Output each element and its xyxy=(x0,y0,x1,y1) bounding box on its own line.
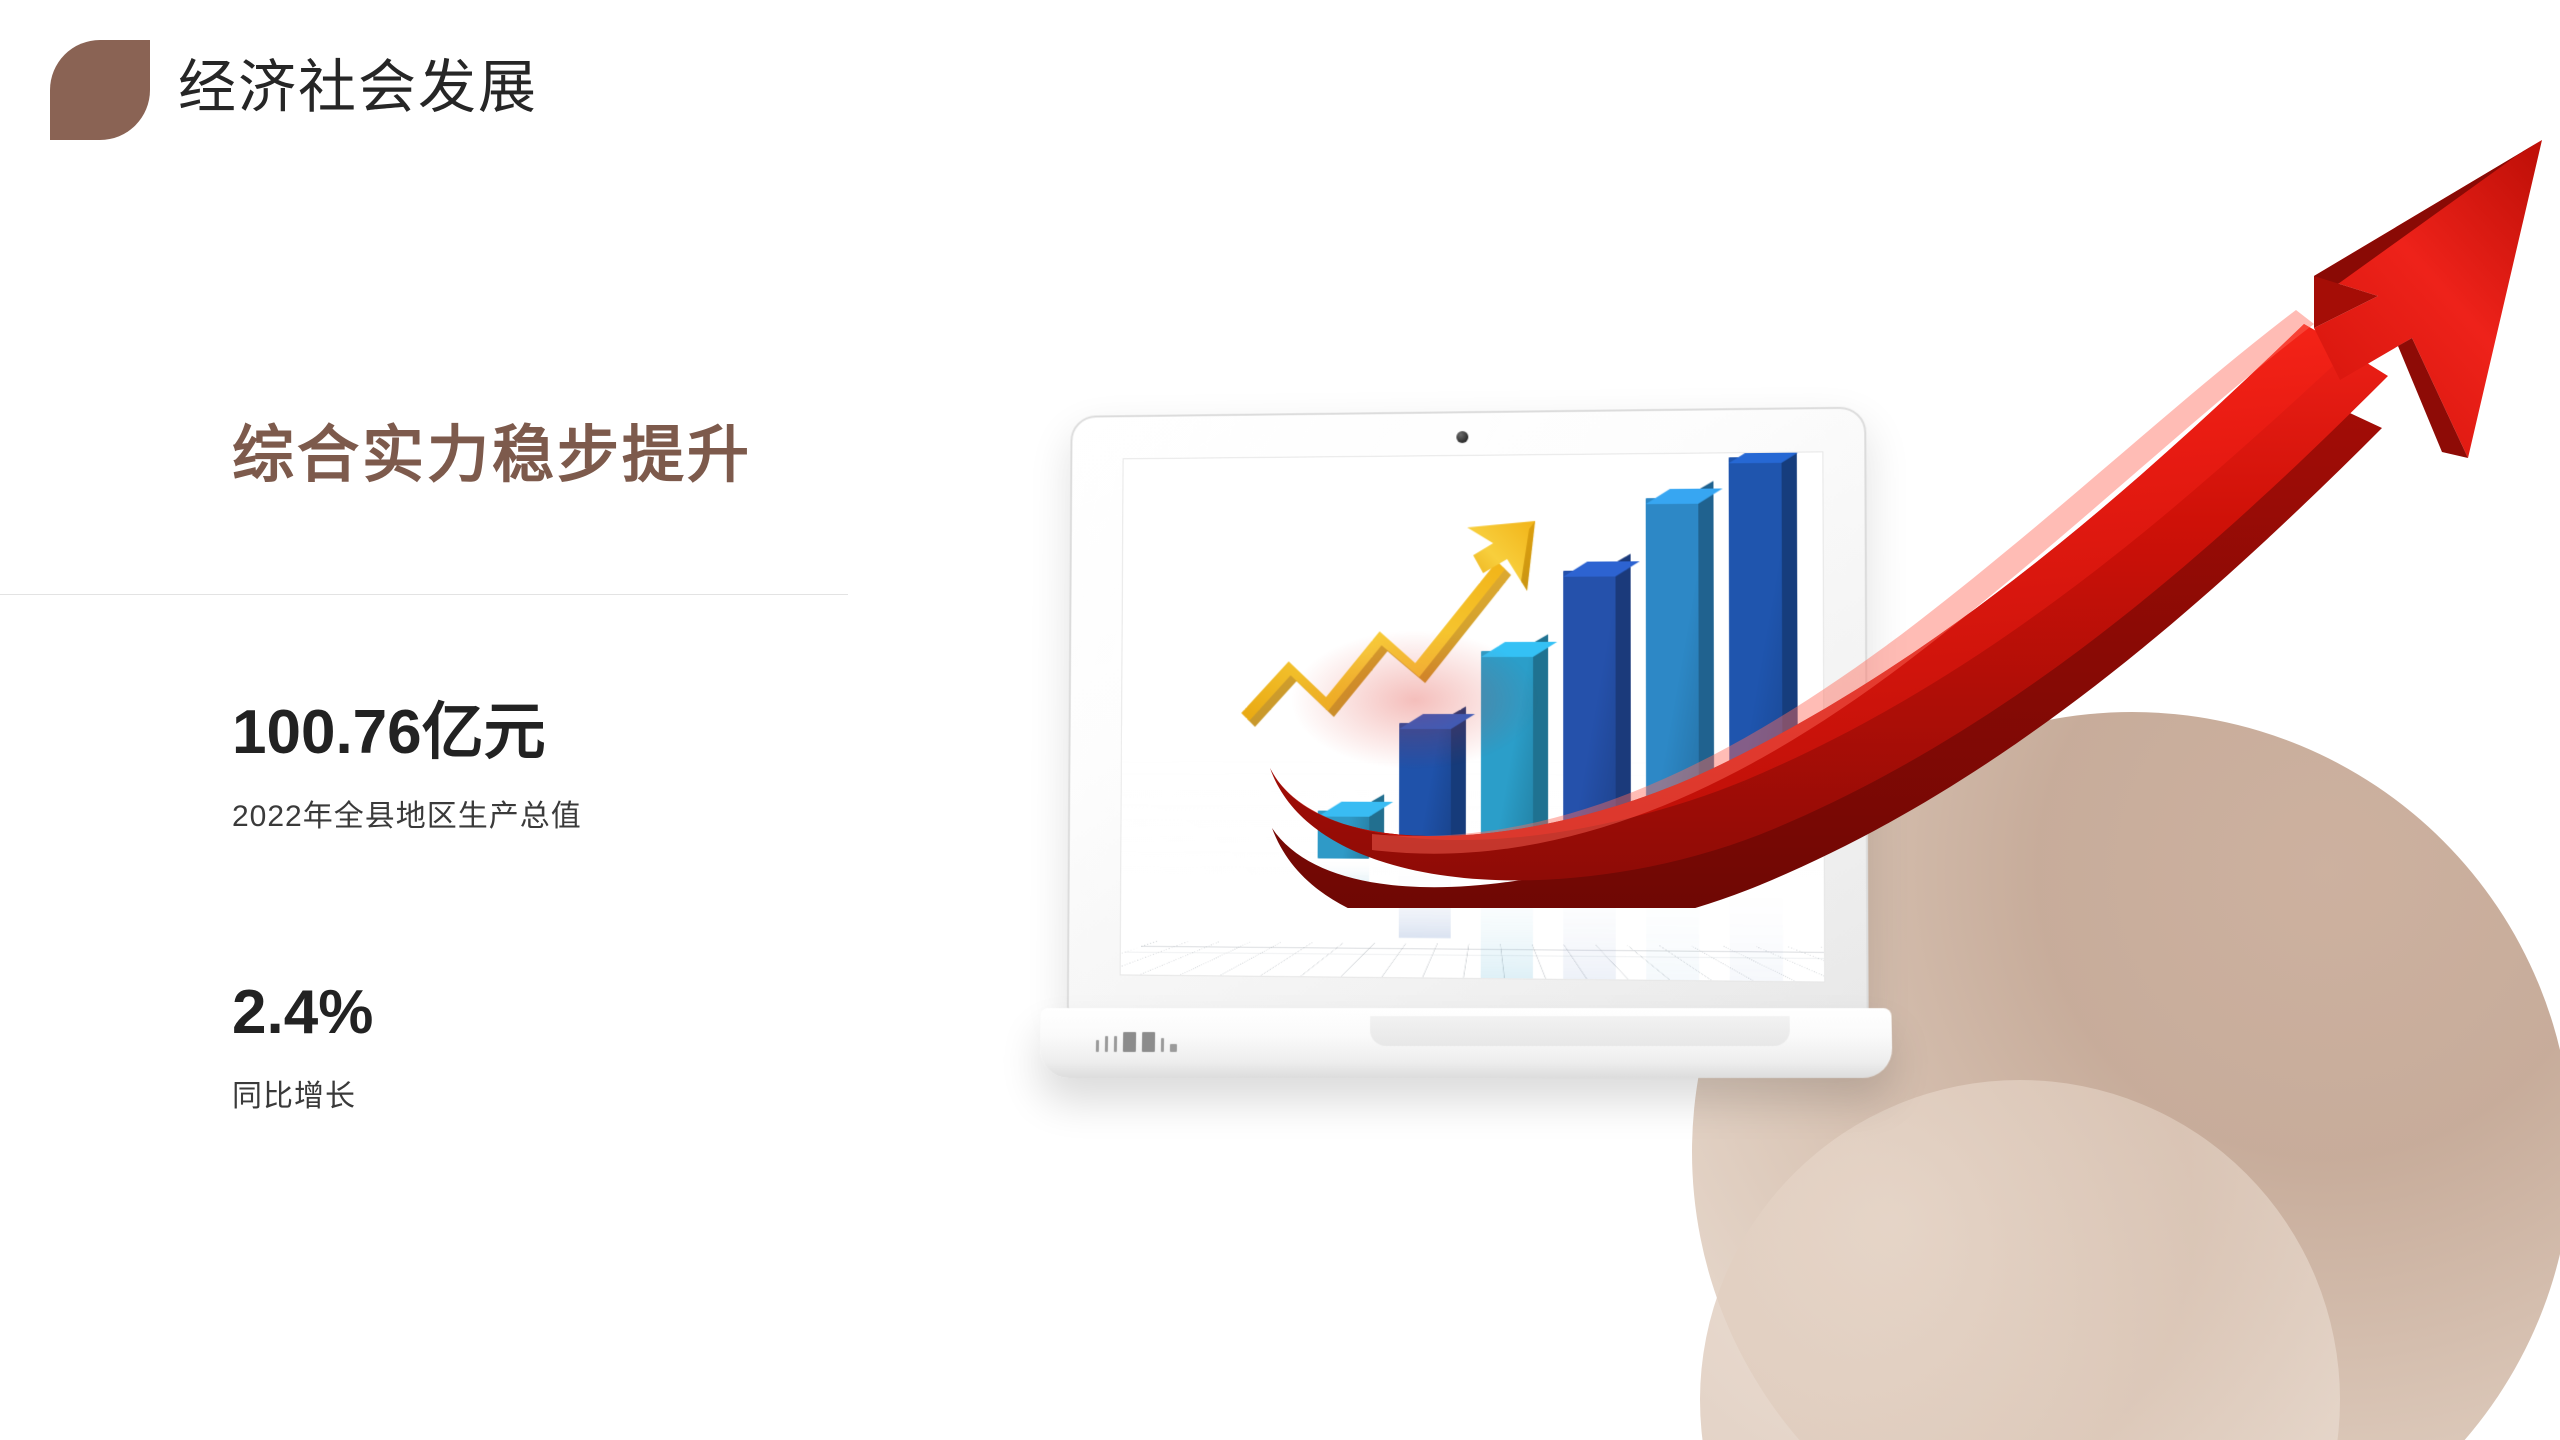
stat-label: 2022年全县地区生产总值 xyxy=(232,791,582,835)
bar-side xyxy=(1782,451,1799,853)
perspective-grid xyxy=(1120,941,1826,982)
laptop-base-notch xyxy=(1370,1016,1790,1046)
bar-reflection xyxy=(1646,860,1699,982)
bar-reflection xyxy=(1730,861,1784,983)
bar-face xyxy=(1729,457,1783,861)
horizontal-divider xyxy=(0,594,848,595)
laptop-base xyxy=(1039,1008,1892,1078)
bar-reflection xyxy=(1318,858,1370,886)
bar-reflection xyxy=(1563,860,1616,983)
bar-side xyxy=(1616,554,1631,852)
bar-reflection xyxy=(1399,859,1451,938)
stat-block-growth: 2.4% 同比增长 xyxy=(232,980,373,1115)
bar-chart xyxy=(1124,452,1823,459)
bar-face xyxy=(1318,811,1370,859)
bar-4 xyxy=(1563,570,1616,860)
slide-header: 经济社会发展 xyxy=(0,0,1200,160)
red-arrow-glow xyxy=(1290,630,1540,770)
bar-5 xyxy=(1646,498,1699,861)
laptop-ports xyxy=(1096,1032,1177,1052)
bar-face xyxy=(1646,498,1699,861)
slide-canvas: 经济社会发展 综合实力稳步提升 100.76亿元 2022年全县地区生产总值 2… xyxy=(0,0,2560,1440)
camera-dot-icon xyxy=(1456,431,1468,443)
section-headline: 综合实力稳步提升 xyxy=(232,404,752,494)
bar-face xyxy=(1563,570,1616,860)
stat-value: 100.76亿元 xyxy=(232,700,582,765)
bar-side xyxy=(1698,481,1714,853)
stat-label: 同比增长 xyxy=(232,1071,373,1115)
bar-1 xyxy=(1318,811,1370,859)
page-title: 经济社会发展 xyxy=(178,38,538,138)
bar-1 xyxy=(1729,457,1783,861)
stat-block-gdp: 100.76亿元 2022年全县地区生产总值 xyxy=(232,700,582,835)
bar-reflection xyxy=(1481,859,1533,981)
laptop-illustration xyxy=(1040,410,1880,1130)
stat-value: 2.4% xyxy=(232,980,373,1045)
leaf-icon xyxy=(50,40,150,140)
